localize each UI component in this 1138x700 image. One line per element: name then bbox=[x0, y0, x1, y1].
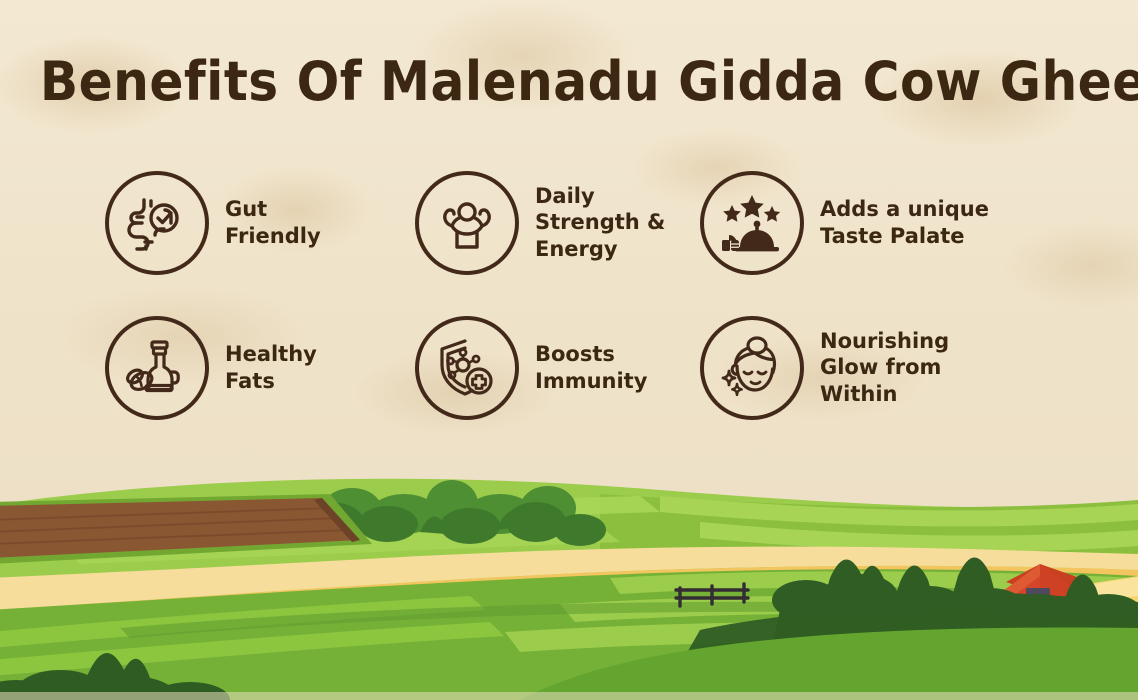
benefit-label-line2: Friendly bbox=[225, 223, 321, 249]
benefit-label-line2: Taste Palate bbox=[820, 223, 989, 249]
benefit-item-healthy-fats[interactable]: Healthy Fats bbox=[105, 295, 415, 440]
benefit-label-line1: Daily bbox=[535, 183, 665, 209]
benefit-label: Nourishing Glow from Within bbox=[820, 328, 949, 406]
benefit-item-daily-strength[interactable]: Daily Strength & Energy bbox=[415, 150, 700, 295]
page-title: Benefits Of Malenadu Gidda Cow Ghee bbox=[40, 50, 1098, 113]
benefit-label-line3: Within bbox=[820, 381, 949, 407]
glowing-face-icon bbox=[700, 316, 804, 420]
benefit-label: Healthy Fats bbox=[225, 341, 317, 393]
tasty-food-stars-icon bbox=[700, 171, 804, 275]
benefit-label: Gut Friendly bbox=[225, 196, 321, 248]
benefit-item-taste-palate[interactable]: Adds a unique Taste Palate bbox=[700, 150, 1040, 295]
benefit-label-line2: Fats bbox=[225, 368, 317, 394]
farm-landscape-illustration bbox=[0, 460, 1138, 700]
benefit-item-gut-friendly[interactable]: Gut Friendly bbox=[105, 150, 415, 295]
benefit-label-line1: Healthy bbox=[225, 341, 317, 367]
benefit-label: Boosts Immunity bbox=[535, 341, 647, 393]
benefit-label-line1: Gut bbox=[225, 196, 321, 222]
infographic-poster: Benefits Of Malenadu Gidda Cow Ghee bbox=[0, 0, 1138, 700]
benefit-label: Adds a unique Taste Palate bbox=[820, 196, 989, 248]
benefits-grid: Gut Friendly Daily Strength & Energy bbox=[105, 150, 1040, 440]
strong-arms-icon bbox=[415, 171, 519, 275]
immunity-shield-icon bbox=[415, 316, 519, 420]
gut-health-icon bbox=[105, 171, 209, 275]
benefit-label-line1: Boosts bbox=[535, 341, 647, 367]
benefit-label-line3: Energy bbox=[535, 236, 665, 262]
benefit-label-line2: Strength & bbox=[535, 209, 665, 235]
benefit-label-line2: Immunity bbox=[535, 368, 647, 394]
benefit-label-line1: Nourishing bbox=[820, 328, 949, 354]
benefit-label-line2: Glow from bbox=[820, 354, 949, 380]
bottom-fade bbox=[0, 692, 1138, 700]
landscape-svg bbox=[0, 460, 1138, 700]
benefit-item-boosts-immunity[interactable]: Boosts Immunity bbox=[415, 295, 700, 440]
benefit-label: Daily Strength & Energy bbox=[535, 183, 665, 261]
benefit-item-nourishing-glow[interactable]: Nourishing Glow from Within bbox=[700, 295, 1040, 440]
benefit-label-line1: Adds a unique bbox=[820, 196, 989, 222]
oil-jug-seeds-icon bbox=[105, 316, 209, 420]
